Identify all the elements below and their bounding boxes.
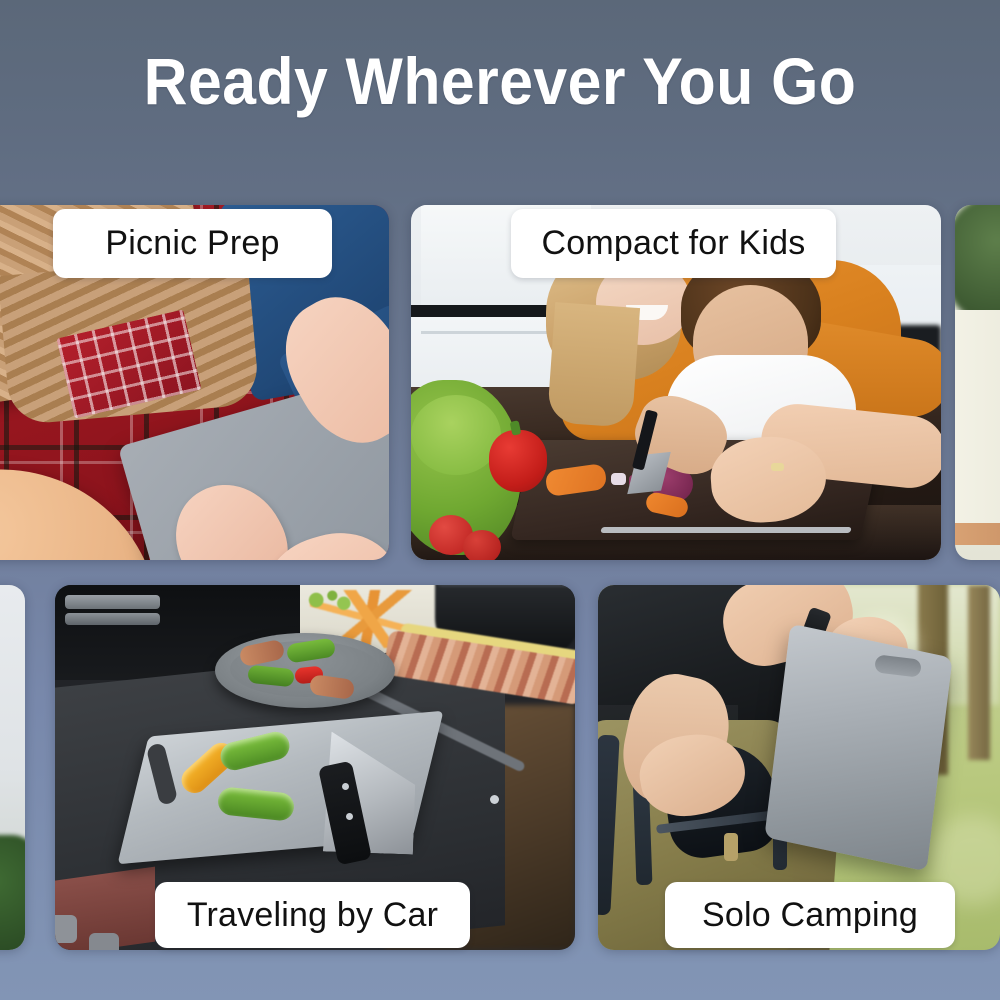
grill-handle-lower (65, 613, 160, 625)
card-partial-right-row1-photo (955, 205, 1000, 560)
wood-surface (955, 523, 1000, 545)
red-bell-pepper (489, 430, 547, 492)
card-label-solo-camping-text: Solo Camping (702, 896, 918, 935)
card-label-solo-camping[interactable]: Solo Camping (665, 882, 955, 948)
mother-hair-strands (547, 302, 640, 428)
cart-latch-one (55, 915, 77, 943)
radish-two (463, 530, 501, 560)
cutting-board-metal-edge (600, 527, 851, 533)
tree-trunk-two (968, 585, 990, 760)
cart-latch-two (89, 933, 119, 950)
promo-banner: Ready Wherever You Go (0, 0, 1000, 1000)
zipper-pull (724, 833, 738, 861)
card-partial-left-row2[interactable] (0, 585, 25, 950)
pot-rim (435, 585, 575, 587)
page-title: Ready Wherever You Go (40, 48, 960, 114)
card-label-picnic-prep-text: Picnic Prep (105, 224, 279, 263)
lettuce-leaf (411, 395, 501, 475)
plant-pot (955, 310, 1000, 525)
card-label-compact-for-kids[interactable]: Compact for Kids (511, 209, 836, 278)
card-partial-left-row2-photo (0, 585, 25, 950)
card-partial-right-row1[interactable] (955, 205, 1000, 560)
gray-cutting-board (764, 624, 952, 872)
plant-foliage (955, 205, 1000, 325)
blurred-foliage (0, 835, 25, 950)
knife-rivet-two (346, 813, 353, 820)
wedding-ring (771, 463, 784, 471)
green-peas (307, 589, 353, 611)
card-label-picnic-prep[interactable]: Picnic Prep (53, 209, 332, 278)
card-label-compact-for-kids-text: Compact for Kids (542, 224, 806, 263)
onion-piece-white (611, 473, 626, 485)
griddle-rivet (490, 795, 499, 804)
card-label-traveling-by-car-text: Traveling by Car (187, 896, 438, 935)
knife-rivet-one (342, 783, 349, 790)
grill-handle-upper (65, 595, 160, 609)
card-label-traveling-by-car[interactable]: Traveling by Car (155, 882, 470, 948)
